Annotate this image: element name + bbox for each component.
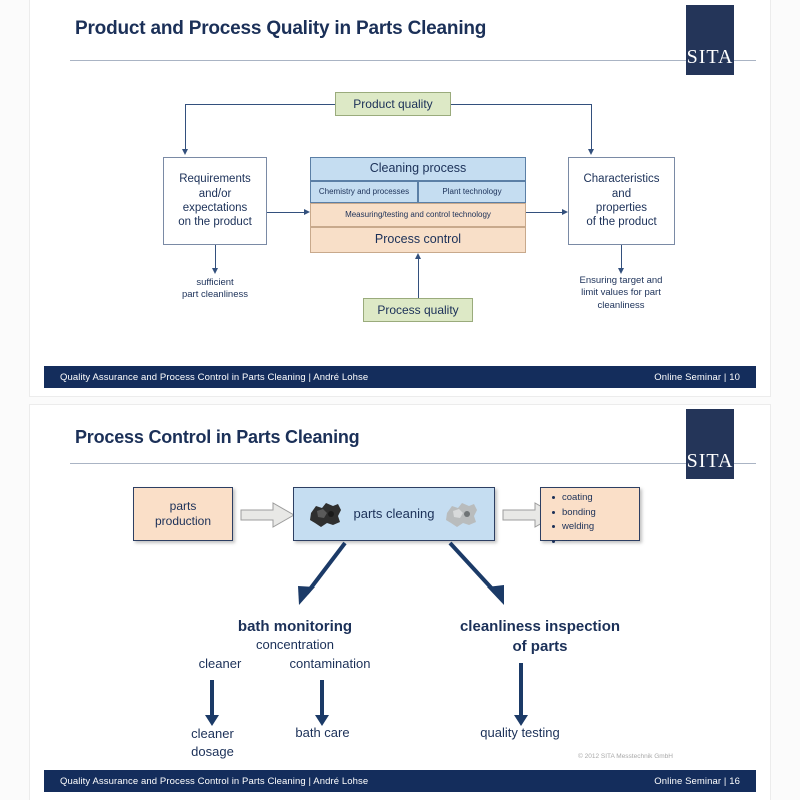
footer-left-text-2: Quality Assurance and Process Control in…	[60, 776, 368, 787]
slide1-footer: Quality Assurance and Process Control in…	[44, 366, 756, 388]
loop-line-left-down	[185, 104, 186, 150]
cleaner-dosage-label: cleaner dosage	[165, 725, 260, 760]
list-item: coating	[552, 491, 642, 506]
clean-part-icon	[443, 501, 481, 534]
parts-production-box[interactable]: parts production	[133, 487, 233, 541]
arrow-to-bath-monitoring-icon	[285, 541, 355, 618]
cleaner-down-line	[210, 680, 214, 718]
req-down-arrow	[212, 268, 218, 274]
center-to-char-line	[526, 212, 562, 213]
sita-logo-text-2: SITA	[686, 450, 734, 473]
bath-monitoring-label: bath monitoring	[200, 617, 390, 637]
slide1-header: Product and Process Quality in Parts Cle…	[30, 0, 770, 78]
requirements-box[interactable]: Requirements and/or expectations on the …	[163, 157, 267, 245]
sufficient-part-cleanliness-label: sufficient part cleanliness	[155, 277, 275, 302]
arrow-to-cleanliness-inspection-icon	[442, 541, 522, 618]
page-title-2: Process Control in Parts Cleaning	[75, 427, 359, 448]
loop-arrow-right	[588, 149, 594, 155]
concentration-label: concentration	[200, 637, 390, 654]
sita-logo-icon: SITA	[686, 5, 734, 75]
char-down-line	[621, 245, 622, 269]
measuring-testing-box[interactable]: Measuring/testing and control technology	[310, 203, 526, 227]
footer-right-text-2: Online Seminar | 16	[654, 776, 740, 787]
ensuring-target-label: Ensuring target and limit values for par…	[561, 275, 681, 312]
chemistry-and-processes-box[interactable]: Chemistry and processes	[310, 181, 418, 203]
process-quality-up-arrow	[415, 253, 421, 259]
sita-logo-icon-2: SITA	[686, 409, 734, 479]
process-quality-up-line	[418, 259, 419, 298]
plant-technology-box[interactable]: Plant technology	[418, 181, 526, 203]
cleaner-label: cleaner	[175, 656, 265, 673]
slide2-header: Process Control in Parts Cleaning SITA	[30, 405, 770, 483]
characteristics-box[interactable]: Characteristics and properties of the pr…	[568, 157, 675, 245]
req-down-line	[215, 245, 216, 269]
cleanliness-inspection-label: cleanliness inspection of parts	[430, 617, 650, 656]
bath-care-label: bath care	[275, 725, 370, 742]
presentation-page: Product and Process Quality in Parts Cle…	[0, 0, 800, 800]
list-item: bonding	[552, 506, 642, 521]
list-item: welding	[552, 520, 642, 535]
inspection-down-line	[519, 663, 523, 718]
header-divider-2	[70, 463, 756, 464]
contamination-label: contamination	[265, 656, 395, 673]
process-control-box[interactable]: Process control	[310, 227, 526, 253]
cleaning-process-box[interactable]: Cleaning process	[310, 157, 526, 181]
page-title: Product and Process Quality in Parts Cle…	[75, 18, 486, 40]
header-divider	[70, 60, 756, 61]
slide-product-and-process-quality: Product and Process Quality in Parts Cle…	[30, 0, 770, 396]
slide2-footer: Quality Assurance and Process Control in…	[44, 770, 756, 792]
list-item: .....	[552, 535, 642, 546]
slide-process-control: Process Control in Parts Cleaning SITA p…	[30, 405, 770, 800]
quality-testing-label: quality testing	[450, 725, 590, 742]
sita-logo-text: SITA	[686, 46, 734, 69]
req-to-center-arrow	[304, 209, 310, 215]
process-quality-box[interactable]: Process quality	[363, 298, 473, 322]
loop-line-left	[185, 104, 335, 105]
arrow-production-to-cleaning-icon	[240, 502, 295, 533]
req-to-center-line	[267, 212, 304, 213]
char-down-arrow	[618, 268, 624, 274]
dirty-part-icon	[307, 501, 345, 534]
loop-line-right-down	[591, 104, 592, 150]
product-quality-box[interactable]: Product quality	[335, 92, 451, 116]
center-to-char-arrow	[562, 209, 568, 215]
footer-right-text: Online Seminar | 10	[654, 372, 740, 383]
copyright-text: © 2012 SITA Messtechnik GmbH	[578, 753, 673, 760]
contamination-down-line	[320, 680, 324, 718]
loop-arrow-left	[182, 149, 188, 155]
footer-left-text: Quality Assurance and Process Control in…	[60, 372, 368, 383]
applications-list: coating bonding welding .....	[552, 491, 642, 546]
loop-line-right	[451, 104, 591, 105]
